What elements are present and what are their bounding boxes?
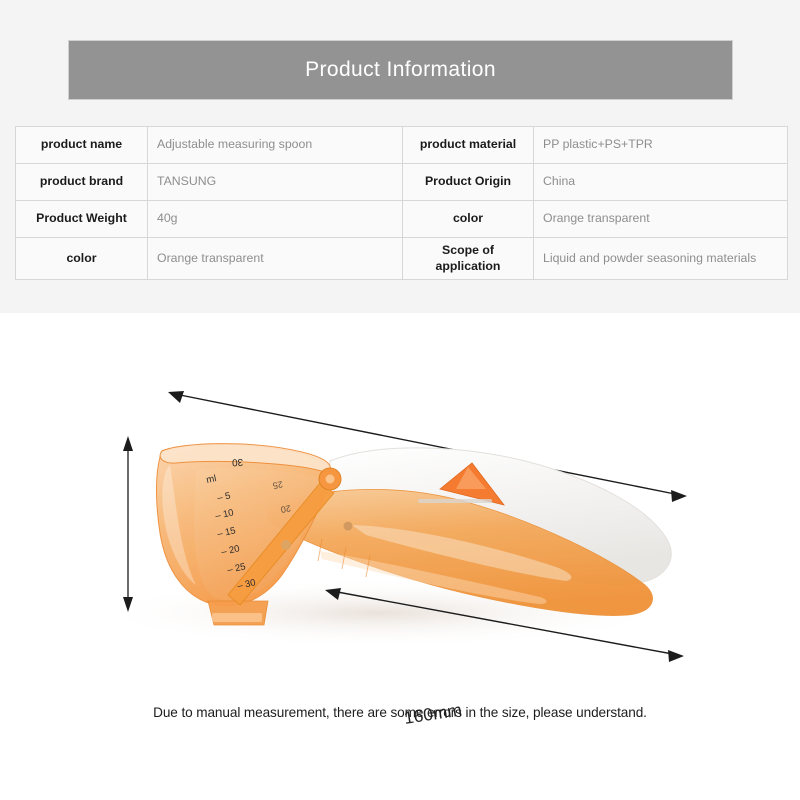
table-row: Product Weight 40g color Orange transpar… xyxy=(16,201,788,238)
specification-panel: Product Information product name Adjusta… xyxy=(0,0,800,313)
slider-track xyxy=(418,499,492,503)
spec-value: TANSUNG xyxy=(148,164,403,201)
spec-value: Liquid and powder seasoning materials xyxy=(534,238,788,280)
scale-mark-mirror-25: 25 xyxy=(272,479,284,491)
spoon-foot-pad xyxy=(212,613,262,622)
pivot-knob-center xyxy=(326,475,335,484)
spec-value: PP plastic+PS+TPR xyxy=(534,127,788,164)
handle-screw xyxy=(344,522,353,531)
scale-mark-top: 30 xyxy=(231,456,243,467)
product-photo-section: 30 ml – 5 – 10 – 15 – 20 – 25 – 30 25 20 xyxy=(0,313,800,800)
spec-label: color xyxy=(403,201,534,238)
spec-label: product material xyxy=(403,127,534,164)
plate-screw xyxy=(281,540,291,550)
measurement-disclaimer: Due to manual measurement, there are som… xyxy=(0,705,800,720)
table-row: color Orange transparent Scope of applic… xyxy=(16,238,788,280)
page-title: Product Information xyxy=(305,58,496,82)
spec-value: 40g xyxy=(148,201,403,238)
table-row: product brand TANSUNG Product Origin Chi… xyxy=(16,164,788,201)
spec-label: Product Origin xyxy=(403,164,534,201)
spec-value: Adjustable measuring spoon xyxy=(148,127,403,164)
spec-label: color xyxy=(16,238,148,280)
spec-label: product brand xyxy=(16,164,148,201)
table-row: product name Adjustable measuring spoon … xyxy=(16,127,788,164)
product-information-banner: Product Information xyxy=(68,40,733,100)
spec-label: product name xyxy=(16,127,148,164)
specification-table: product name Adjustable measuring spoon … xyxy=(15,126,788,280)
spec-value: China xyxy=(534,164,788,201)
spec-label: Product Weight xyxy=(16,201,148,238)
scale-mark-mirror-20: 20 xyxy=(280,503,292,515)
spec-value: Orange transparent xyxy=(534,201,788,238)
spec-value: Orange transparent xyxy=(148,238,403,280)
product-information-page: Product Information product name Adjusta… xyxy=(0,0,800,800)
spec-label: Scope of application xyxy=(403,238,534,280)
dimension-arrow-50mm xyxy=(123,436,133,612)
product-photo-stage: 30 ml – 5 – 10 – 15 – 20 – 25 – 30 25 20 xyxy=(0,313,800,733)
